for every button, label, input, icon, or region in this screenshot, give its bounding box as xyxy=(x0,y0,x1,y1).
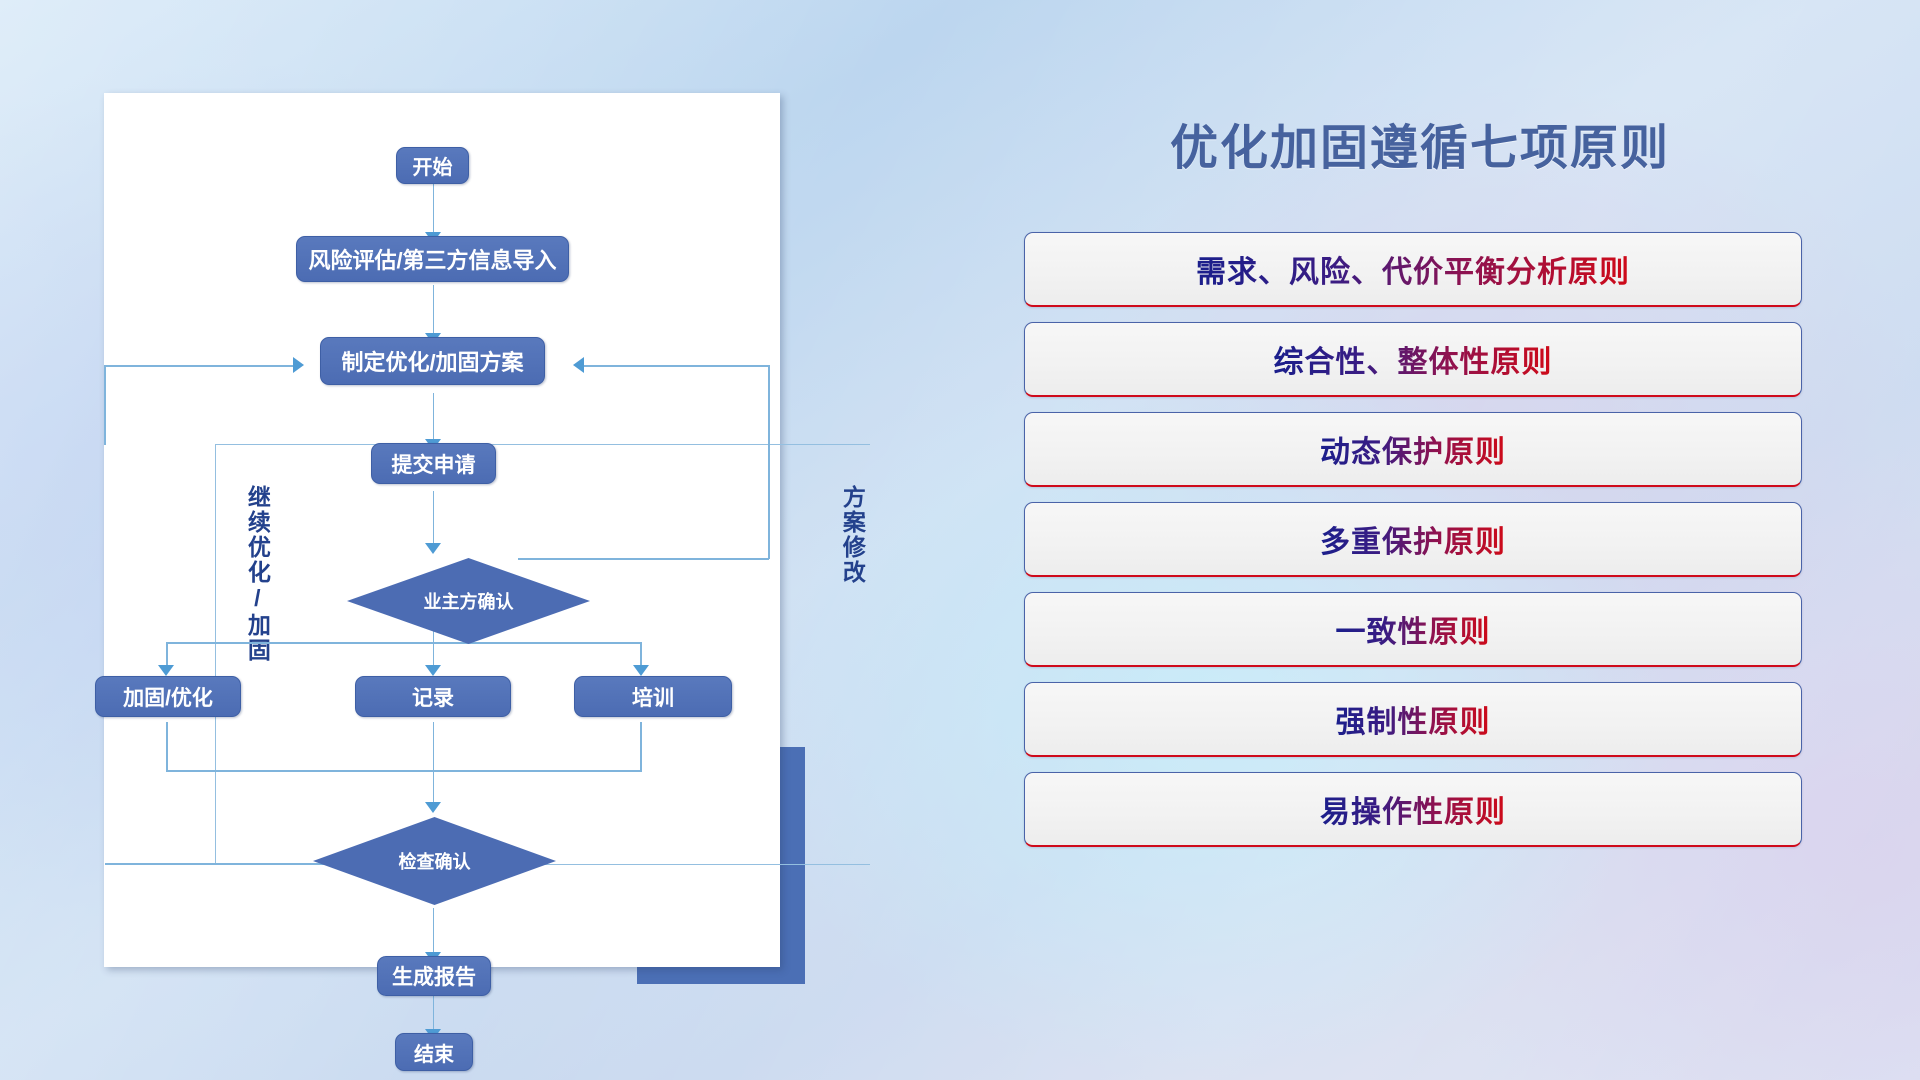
arrowhead-loop-left-to-plan xyxy=(293,357,304,373)
loop-label-continue-optimize: 继续优化/加固 xyxy=(245,485,269,663)
principle-label: 一致性原则 xyxy=(1336,607,1491,651)
principle-card[interactable]: 动态保护原则 xyxy=(1024,412,1802,487)
node-record[interactable]: 记录 xyxy=(355,676,511,717)
connector-merge-bus xyxy=(166,770,642,772)
node-end[interactable]: 结束 xyxy=(395,1033,473,1071)
connector-submit-owner xyxy=(433,491,435,547)
principle-label: 综合性、整体性原则 xyxy=(1274,337,1553,381)
principles-list: 需求、风险、代价平衡分析原则 综合性、整体性原则 动态保护原则 多重保护原则 一… xyxy=(1024,232,1802,862)
connector-check-report xyxy=(433,908,435,956)
loop-label-plan-revision: 方案修改 xyxy=(840,485,864,585)
flowchart-card: 继续优化/加固 方案修改 开始 风险评估/第三方信息导入 制定优化/加固方案 xyxy=(104,93,780,967)
arrowhead-loop-right-to-plan xyxy=(573,357,584,373)
connector-record-to-check xyxy=(433,722,435,806)
node-training[interactable]: 培训 xyxy=(574,676,732,717)
connector-loop-left-riser xyxy=(104,365,106,445)
connector-owner-to-revision xyxy=(518,558,769,560)
connector-training-down xyxy=(640,722,642,771)
connector-report-end xyxy=(433,991,435,1033)
connector-risk-plan xyxy=(433,285,435,337)
principle-card[interactable]: 强制性原则 xyxy=(1024,682,1802,757)
principle-label: 动态保护原则 xyxy=(1320,427,1506,471)
arrowhead-record xyxy=(425,665,441,676)
principle-label: 多重保护原则 xyxy=(1320,517,1506,561)
node-submit-application[interactable]: 提交申请 xyxy=(371,443,496,484)
connector-loop-right-riser xyxy=(768,365,770,559)
connector-start-risk xyxy=(433,182,435,236)
node-reinforce-optimize[interactable]: 加固/优化 xyxy=(95,676,241,717)
principle-card[interactable]: 需求、风险、代价平衡分析原则 xyxy=(1024,232,1802,307)
connector-loop-left-to-plan xyxy=(105,365,295,367)
node-make-plan[interactable]: 制定优化/加固方案 xyxy=(320,337,545,385)
arrowhead-training xyxy=(633,665,649,676)
principle-label: 强制性原则 xyxy=(1336,697,1491,741)
arrowhead-submit-owner xyxy=(425,543,441,554)
principle-label: 需求、风险、代价平衡分析原则 xyxy=(1196,247,1630,291)
connector-check-to-loop xyxy=(105,863,347,865)
node-start[interactable]: 开始 xyxy=(396,147,469,184)
connector-plan-submit xyxy=(433,393,435,443)
principle-card[interactable]: 多重保护原则 xyxy=(1024,502,1802,577)
connector-reinforce-down xyxy=(166,722,168,771)
arrowhead-reinforce xyxy=(158,665,174,676)
node-risk-assessment[interactable]: 风险评估/第三方信息导入 xyxy=(296,236,569,282)
principle-card[interactable]: 一致性原则 xyxy=(1024,592,1802,667)
connector-fanout-bus xyxy=(166,642,641,644)
node-generate-report[interactable]: 生成报告 xyxy=(377,956,491,996)
principle-card[interactable]: 易操作性原则 xyxy=(1024,772,1802,847)
connector-loop-right-to-plan xyxy=(584,365,770,367)
principle-label: 易操作性原则 xyxy=(1320,787,1506,831)
page-title: 优化加固遵循七项原则 xyxy=(1020,108,1820,178)
feedback-loop-frame xyxy=(215,444,870,865)
principle-card[interactable]: 综合性、整体性原则 xyxy=(1024,322,1802,397)
arrowhead-check-confirm xyxy=(425,802,441,813)
